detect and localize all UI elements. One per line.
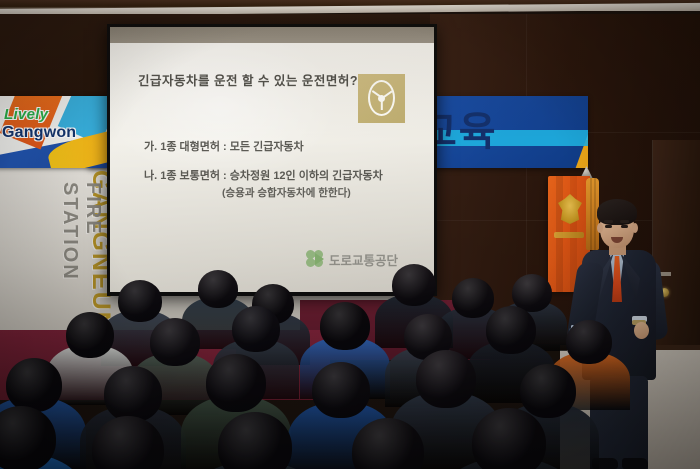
audience-member-head (198, 270, 238, 308)
gangwon-text: Gangwon (2, 124, 76, 142)
slide-bullet-2-subnote: (승용과 승합자동차에 한한다) (222, 185, 351, 200)
projection-screen[interactable]: 긴급자동차를 운전 할 수 있는 운전면허? 가. 1종 대형면허 : 모든 긴… (110, 43, 434, 292)
audience-member-head (6, 358, 62, 412)
audience-member-head (118, 280, 162, 322)
audience-member-head (392, 264, 436, 306)
audience-member-head (452, 278, 494, 318)
lively-text: Lively (4, 106, 48, 123)
audience-member-head (520, 364, 576, 418)
audience-member-head (66, 312, 114, 358)
audience-member-head (320, 302, 370, 350)
audience-member-head (104, 366, 162, 422)
projector-glow (110, 43, 340, 183)
slide-bullet-2: 나. 1종 보통면허 : 승차정원 12인 이하의 긴급자동차 (144, 167, 383, 183)
slide-bullet-1: 가. 1종 대형면허 : 모든 긴급자동차 (144, 138, 304, 154)
audience-member-head (486, 306, 536, 354)
projection-screen-header-band (110, 27, 434, 44)
audience-member-head (472, 408, 546, 469)
audience-member-head (206, 354, 266, 412)
audience-member-head (232, 306, 280, 352)
presenter-hair (597, 199, 637, 225)
audience-member-head (566, 320, 612, 364)
lively-gangwon-banner: Lively Gangwon (0, 96, 108, 168)
audience-member-head (150, 318, 200, 366)
audience-member-head (416, 350, 476, 408)
slide-title: 긴급자동차를 운전 할 수 있는 운전면허? (138, 70, 358, 89)
steering-wheel-icon (368, 80, 395, 116)
lecture-hall-photo: 긴 교육 Lively Gangwon GANGNEUNG FIRE STATI… (0, 0, 700, 469)
audience-member-head (312, 362, 370, 418)
audience (0, 266, 700, 469)
